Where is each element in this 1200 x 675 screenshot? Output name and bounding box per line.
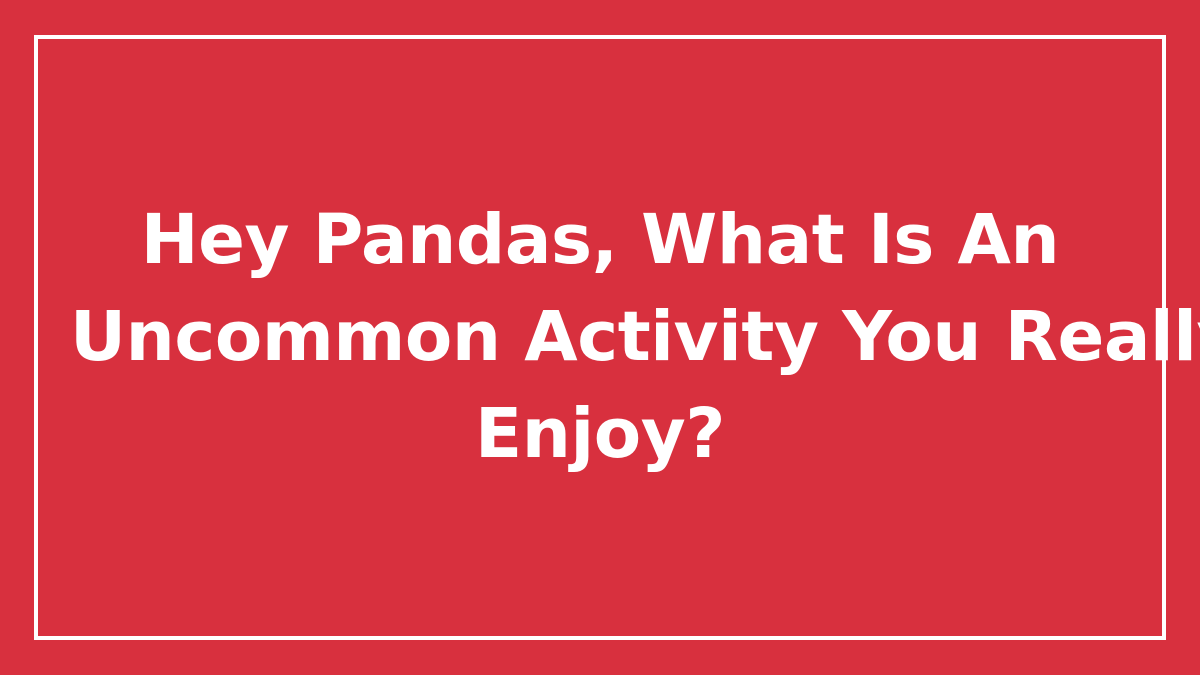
headline-line-1: Hey Pandas, What Is An (70, 192, 1130, 289)
headline-line-3: Enjoy? (70, 386, 1130, 483)
quote-card: Hey Pandas, What Is An Uncommon Activity… (0, 0, 1200, 675)
headline-line-2: Uncommon Activity You Really (70, 289, 1130, 386)
page-title: Hey Pandas, What Is An Uncommon Activity… (70, 192, 1130, 483)
headline-block: Hey Pandas, What Is An Uncommon Activity… (0, 0, 1200, 675)
